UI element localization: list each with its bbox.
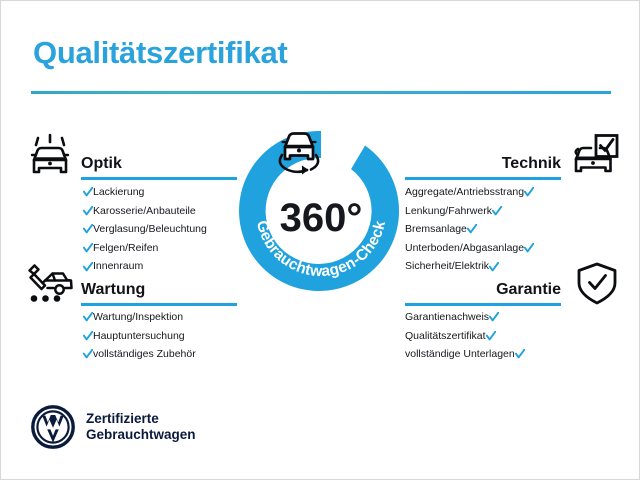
section-technik: Technik bbox=[405, 147, 561, 173]
section-divider-optik bbox=[81, 177, 237, 180]
list-item: Wartung/Inspektion bbox=[83, 308, 196, 327]
check-icon bbox=[489, 262, 499, 272]
list-item-label: vollständige Unterlagen bbox=[405, 345, 515, 364]
section-optik: Optik bbox=[81, 147, 237, 173]
section-divider-garantie bbox=[405, 303, 561, 306]
list-item: Lenkung/Fahrwerk bbox=[405, 202, 561, 221]
section-title-technik: Technik bbox=[502, 155, 561, 173]
footer-brand: Zertifizierte Gebrauchtwagen bbox=[31, 405, 196, 449]
check-icon bbox=[467, 224, 477, 234]
badge-center-label: 360° bbox=[280, 196, 363, 240]
list-item-label: Lackierung bbox=[93, 183, 144, 202]
section-garantie: Garantie bbox=[405, 273, 561, 299]
check-icon bbox=[83, 331, 93, 341]
footer-brand-text: Zertifizierte Gebrauchtwagen bbox=[86, 411, 196, 443]
list-item-label: Karosserie/Anbauteile bbox=[93, 202, 196, 221]
title-divider bbox=[31, 91, 611, 94]
footer-line-1: Zertifizierte bbox=[86, 411, 196, 427]
check-icon bbox=[83, 187, 93, 197]
check-icon bbox=[83, 206, 93, 216]
check-icon bbox=[83, 349, 93, 359]
list-item-label: vollständiges Zubehör bbox=[93, 345, 196, 364]
section-title-wartung: Wartung bbox=[81, 281, 145, 299]
list-item: Verglasung/Beleuchtung bbox=[83, 220, 207, 239]
check-icon bbox=[83, 262, 93, 272]
list-item: Felgen/Reifen bbox=[83, 239, 207, 258]
certificate-canvas: Qualitätszertifikat Optik bbox=[0, 0, 640, 480]
list-item-label: Aggregate/Antriebsstrang bbox=[405, 183, 524, 202]
section-wartung: Wartung bbox=[81, 273, 237, 299]
check-icon bbox=[489, 312, 499, 322]
check-icon bbox=[486, 331, 496, 341]
list-item: Unterboden/Abgasanlage bbox=[405, 239, 561, 258]
wrench-car-icon bbox=[25, 261, 77, 307]
section-divider-wartung bbox=[81, 303, 237, 306]
check-icon bbox=[524, 187, 534, 197]
list-item: vollständiges Zubehör bbox=[83, 345, 196, 364]
check-icon bbox=[83, 312, 93, 322]
car-sparkle-icon bbox=[25, 133, 77, 179]
list-item-label: Wartung/Inspektion bbox=[93, 308, 183, 327]
check-icon bbox=[492, 206, 502, 216]
section-list-technik: Aggregate/Antriebsstrang Lenkung/Fahrwer… bbox=[405, 183, 561, 276]
list-item: Aggregate/Antriebsstrang bbox=[405, 183, 561, 202]
check-icon bbox=[83, 224, 93, 234]
footer-line-2: Gebrauchtwagen bbox=[86, 427, 196, 443]
check-icon bbox=[524, 243, 534, 253]
section-list-optik: Lackierung Karosserie/Anbauteile Verglas… bbox=[83, 183, 207, 276]
check-icon bbox=[515, 349, 525, 359]
shield-check-icon bbox=[573, 261, 621, 307]
car-checkbox-icon bbox=[569, 133, 621, 179]
list-item-label: Garantienachweis bbox=[405, 308, 489, 327]
section-title-optik: Optik bbox=[81, 155, 122, 173]
list-item-label: Hauptuntersuchung bbox=[93, 327, 185, 346]
section-divider-technik bbox=[405, 177, 561, 180]
badge-360-gebrauchtwagen-check: Gebrauchtwagen-Check bbox=[229, 119, 413, 303]
list-item: Qualitätszertifikat bbox=[405, 327, 561, 346]
list-item: Hauptuntersuchung bbox=[83, 327, 196, 346]
list-item-label: Unterboden/Abgasanlage bbox=[405, 239, 524, 258]
page-title: Qualitätszertifikat bbox=[33, 35, 287, 71]
list-item: Bremsanlage bbox=[405, 220, 561, 239]
list-item-label: Lenkung/Fahrwerk bbox=[405, 202, 492, 221]
list-item-label: Felgen/Reifen bbox=[93, 239, 158, 258]
check-icon bbox=[83, 243, 93, 253]
section-list-wartung: Wartung/Inspektion Hauptuntersuchung vol… bbox=[83, 308, 196, 364]
list-item-label: Qualitätszertifikat bbox=[405, 327, 486, 346]
list-item: Garantienachweis bbox=[405, 308, 561, 327]
list-item-label: Verglasung/Beleuchtung bbox=[93, 220, 207, 239]
section-title-garantie: Garantie bbox=[496, 281, 561, 299]
vw-logo-icon bbox=[31, 405, 75, 449]
list-item-label: Bremsanlage bbox=[405, 220, 467, 239]
section-list-garantie: Garantienachweis Qualitätszertifikat vol… bbox=[405, 308, 561, 364]
list-item: vollständige Unterlagen bbox=[405, 345, 561, 364]
list-item: Karosserie/Anbauteile bbox=[83, 202, 207, 221]
list-item: Lackierung bbox=[83, 183, 207, 202]
